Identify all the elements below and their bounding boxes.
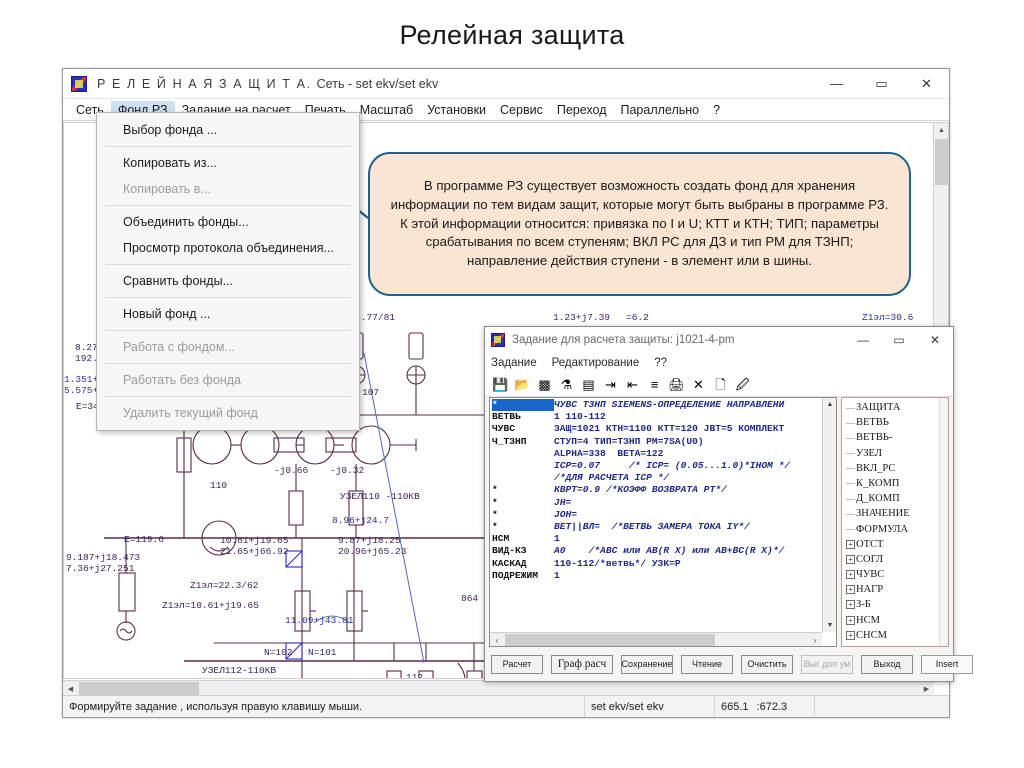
- tree-node-8[interactable]: —ФОРМУЛА: [845, 521, 948, 536]
- app-logo-icon: [71, 76, 87, 92]
- task-text-line[interactable]: *КВРТ=0.9 /*КОЭФФ ВОЗВРАТА РТ*/: [492, 484, 822, 496]
- task-line-body: 110-112/*ветвь*/ УЗК=Р: [554, 558, 681, 570]
- task-text-line[interactable]: *JОН=: [492, 509, 822, 521]
- fund-menu-item-4[interactable]: Просмотр протокола объединения...: [97, 235, 359, 261]
- task-text-line[interactable]: *ЧУВС ТЗНП SIEMENS-ОПРЕДЕЛЕНИЕ НАПРАВЛЕН…: [492, 399, 822, 411]
- diagram-label: 9.187+j18.473: [66, 552, 140, 563]
- dialog-button-bar: РасчетГраф расчСохранениеЧтениеОчиститьВ…: [485, 647, 953, 681]
- dialog-title: Задание для расчета защиты: j1021-4-pm: [512, 334, 734, 346]
- dialog-button-2[interactable]: Сохранение: [621, 655, 673, 674]
- task-line-body: ЧУВС ТЗНП SIEMENS-ОПРЕДЕЛЕНИЕ НАПРАВЛЕНИ: [554, 399, 784, 411]
- dialog-button-0[interactable]: Расчет: [491, 655, 543, 674]
- fund-dropdown-menu[interactable]: Выбор фонда ...Копировать из...Копироват…: [96, 112, 360, 431]
- slide-root: Релейная защита Р Е Л Е Й Н А Я З А Щ И …: [0, 0, 1024, 768]
- task-text-line[interactable]: *ВЕТ||ВЛ= /*ВЕТВЬ ЗАМЕРА ТОКА IY*/: [492, 521, 822, 533]
- fund-menu-item-1[interactable]: Копировать из...: [97, 150, 359, 176]
- fund-menu-item-7: Работа с фондом...: [97, 334, 359, 360]
- task-line-keyword: ВИД-КЗ: [492, 545, 554, 557]
- tree-node-1[interactable]: —ВЕТВЬ: [845, 415, 948, 430]
- task-line-keyword: *: [492, 399, 554, 411]
- status-hint: Формируйте задание , используя правую кл…: [63, 696, 585, 717]
- app-title-sub: Сеть - set ekv/set ekv: [317, 77, 439, 91]
- tree-node-label: СОГЛ: [856, 554, 883, 565]
- app-titlebar: Р Е Л Е Й Н А Я З А Щ И Т А. Сеть - set …: [63, 69, 949, 99]
- tree-node-5[interactable]: —К_КОМП: [845, 476, 948, 491]
- task-line-keyword: Ч_ТЗНП: [492, 436, 554, 448]
- diagram-label: N=102: [264, 647, 293, 658]
- tree-node-label: ВЕТВЬ-: [856, 432, 892, 443]
- status-file: set ekv/set ekv: [585, 696, 715, 717]
- diagram-label: =6.2: [626, 312, 649, 323]
- tree-connector-icon: —: [845, 403, 856, 413]
- app-title: Р Е Л Е Й Н А Я З А Щ И Т А. Сеть - set …: [97, 77, 438, 91]
- dialog-button-3[interactable]: Чтение: [681, 655, 733, 674]
- diagram-label: Z1эл=10.61+j19.65: [162, 600, 259, 611]
- fund-menu-item-9: Удалить текущий фонд: [97, 400, 359, 426]
- task-calculation-dialog: Задание для расчета защиты: j1021-4-pm —…: [484, 326, 954, 682]
- tree-node-label: ПОДРЕЖИМ: [856, 645, 916, 647]
- tree-node-0[interactable]: —ЗАЩИТА: [845, 400, 948, 415]
- vertical-scroll-thumb[interactable]: [935, 139, 948, 185]
- expand-plus-icon[interactable]: +: [845, 570, 856, 579]
- editor-scroll-down-icon[interactable]: ▼: [823, 618, 837, 632]
- dialog-app-icon: [491, 333, 505, 347]
- task-line-body: 1: [554, 570, 560, 582]
- dialog-menubar: ЗаданиеРедактирование??: [485, 353, 953, 372]
- task-line-keyword: НСМ: [492, 533, 554, 545]
- diagram-label: 864: [461, 593, 478, 604]
- task-text-line[interactable]: ЧУВСЗАЩ=1021 КТН=1100 КТТ=120 JВТ=5 КОМП…: [492, 423, 822, 435]
- edit-row-icon[interactable]: ≡: [645, 375, 664, 394]
- tree-node-15[interactable]: +СНСМ: [845, 628, 948, 643]
- app-icon[interactable]: ▩: [535, 375, 554, 394]
- task-text-editor[interactable]: *ЧУВС ТЗНП SIEMENS-ОПРЕДЕЛЕНИЕ НАПРАВЛЕН…: [489, 397, 837, 647]
- tree-node-3[interactable]: —УЗЕЛ: [845, 445, 948, 460]
- diagram-label: -j0.32: [330, 465, 364, 476]
- dialog-toolbar: 💾📂▩⚗▤⇥⇤≡🖨✕🗋🖉: [485, 372, 953, 397]
- tree-node-4[interactable]: —ВКЛ_РС: [845, 461, 948, 476]
- dialog-button-6[interactable]: Выход: [861, 655, 913, 674]
- dialog-button-7[interactable]: Insert: [921, 655, 973, 674]
- task-line-keyword: *: [492, 484, 554, 496]
- editor-scroll-up-icon[interactable]: ▲: [823, 398, 837, 412]
- expand-plus-icon[interactable]: +: [845, 555, 856, 564]
- dialog-maximize-button[interactable]: ▭: [881, 327, 917, 353]
- expand-plus-icon[interactable]: +: [845, 600, 856, 609]
- parameters-tree[interactable]: —ЗАЩИТА—ВЕТВЬ—ВЕТВЬ-—УЗЕЛ—ВКЛ_РС—К_КОМП—…: [841, 397, 949, 647]
- editor-horizontal-scrollbar[interactable]: ‹ ›: [490, 632, 822, 646]
- task-line-body: СТУП=4 ТИП=ТЗНП РМ=7SA(U0): [554, 436, 704, 448]
- menu-item-8[interactable]: Параллельно: [614, 101, 707, 119]
- tree-node-label: ВЕТВЬ: [856, 417, 889, 428]
- task-line-body: ALPHA=338 BETA=122: [554, 448, 663, 460]
- diagram-label: N=101: [308, 647, 337, 658]
- tree-node-label: НАГР: [856, 584, 883, 595]
- tree-node-label: З-Б: [856, 599, 871, 610]
- scroll-right-icon[interactable]: ▶: [919, 681, 934, 696]
- diagram-label: E=119.6: [124, 534, 164, 545]
- tree-node-label: ОТСТ: [856, 539, 883, 550]
- task-text-line[interactable]: КАСКАД110-112/*ветвь*/ УЗК=Р: [492, 558, 822, 570]
- task-line-keyword: *: [492, 497, 554, 509]
- task-text-line[interactable]: НСМ1: [492, 533, 822, 545]
- editor-scroll-right-icon[interactable]: ›: [808, 633, 822, 647]
- task-text-line[interactable]: ПОДРЕЖИМ1: [492, 570, 822, 582]
- task-line-body: КВРТ=0.9 /*КОЭФФ ВОЗВРАТА РТ*/: [554, 484, 727, 496]
- menu-separator: [105, 297, 351, 298]
- task-text-line[interactable]: Ч_ТЗНПСТУП=4 ТИП=ТЗНП РМ=7SA(U0): [492, 436, 822, 448]
- dialog-body: *ЧУВС ТЗНП SIEMENS-ОПРЕДЕЛЕНИЕ НАПРАВЛЕН…: [485, 397, 953, 647]
- task-line-keyword: [492, 448, 554, 460]
- task-line-body: ICP=0.07 /* ICP= (0.05...1.0)*IНОМ */: [554, 460, 790, 472]
- task-line-keyword: [492, 460, 554, 472]
- menu-separator: [105, 396, 351, 397]
- diagram-label: -j0.66: [274, 465, 308, 476]
- diagram-label: 1.23+j7.39: [553, 312, 610, 323]
- tree-node-16[interactable]: +ПОДРЕЖИМ: [845, 643, 948, 647]
- dialog-close-button[interactable]: ✕: [917, 327, 953, 353]
- tree-node-label: НСМ: [856, 615, 880, 626]
- dialog-menu-item-0[interactable]: Задание: [491, 357, 546, 369]
- editor-vertical-scrollbar[interactable]: ▲ ▼: [822, 398, 836, 632]
- fund-menu-item-2: Копировать в...: [97, 176, 359, 202]
- callout-bubble: В программе РЗ существует возможность со…: [368, 152, 911, 296]
- task-text-line[interactable]: ВИД-КЗА0 /*ABC или AB(R X) или AB+BC(R X…: [492, 545, 822, 557]
- task-line-body: А0 /*ABC или AB(R X) или AB+BC(R X)*/: [554, 545, 784, 557]
- diagram-label: Z1эл=22.3/62: [190, 580, 258, 591]
- tree-connector-icon: —: [845, 463, 856, 473]
- remove-row-icon[interactable]: ⇥: [601, 375, 620, 394]
- page-title: Релейная защита: [0, 20, 1024, 51]
- menu-item-5[interactable]: Установки: [420, 101, 493, 119]
- menu-separator: [105, 205, 351, 206]
- tree-node-12[interactable]: +НАГР: [845, 582, 948, 597]
- tree-node-14[interactable]: +НСМ: [845, 613, 948, 628]
- scroll-up-icon[interactable]: ▲: [934, 123, 949, 138]
- editor-scroll-left-icon[interactable]: ‹: [490, 633, 504, 647]
- scroll-left-icon[interactable]: ◀: [63, 681, 78, 696]
- status-bar: Формируйте задание , используя правую кл…: [63, 695, 949, 717]
- fund-menu-item-8: Работать без фонда: [97, 367, 359, 393]
- diagram-label: 21.65+j66.92: [220, 546, 288, 557]
- callout-text: В программе РЗ существует возможность со…: [390, 177, 889, 271]
- status-coordinates: 665.1 :672.3: [715, 696, 815, 717]
- dialog-menu-item-1[interactable]: Редактирование: [552, 357, 649, 369]
- menu-item-7[interactable]: Переход: [550, 101, 614, 119]
- task-text-line[interactable]: ICP=0.07 /* ICP= (0.05...1.0)*IНОМ */: [492, 460, 822, 472]
- tree-node-2[interactable]: —ВЕТВЬ-: [845, 430, 948, 445]
- task-line-keyword: ЧУВС: [492, 423, 554, 435]
- diagram-label: 8.96+j24.7: [332, 515, 389, 526]
- open-folder-icon[interactable]: 📂: [513, 375, 532, 394]
- expand-plus-icon[interactable]: +: [845, 646, 856, 647]
- menu-separator: [105, 363, 351, 364]
- task-text-line[interactable]: *JН=: [492, 497, 822, 509]
- expand-plus-icon[interactable]: +: [845, 540, 856, 549]
- fund-menu-item-3[interactable]: Объединить фонды...: [97, 209, 359, 235]
- list-icon[interactable]: ▤: [579, 375, 598, 394]
- diagram-label: 112: [406, 672, 423, 679]
- menu-item-6[interactable]: Сервис: [493, 101, 550, 119]
- menu-item-4[interactable]: Масштаб: [353, 101, 420, 119]
- dialog-window-controls: — ▭ ✕: [845, 327, 953, 353]
- task-line-body: 1 110-112: [554, 411, 606, 423]
- task-line-keyword: КАСКАД: [492, 558, 554, 570]
- horizontal-scroll-thumb[interactable]: [79, 682, 199, 695]
- task-line-body: ЗАЩ=1021 КТН=1100 КТТ=120 JВТ=5 КОМПЛЕКТ: [554, 423, 784, 435]
- expand-plus-icon[interactable]: +: [845, 616, 856, 625]
- fund-menu-item-0[interactable]: Выбор фонда ...: [97, 117, 359, 143]
- task-line-body: JН=: [554, 497, 571, 509]
- diagram-label: Z1эл=30.6: [862, 312, 913, 323]
- diagram-label: 9.87+j18.25: [338, 535, 401, 546]
- close-button[interactable]: ✕: [904, 69, 949, 99]
- minimize-button[interactable]: —: [814, 69, 859, 99]
- task-line-body: JОН=: [554, 509, 577, 521]
- menu-separator: [105, 146, 351, 147]
- task-line-keyword: *: [492, 509, 554, 521]
- tree-node-label: УЗЕЛ: [856, 448, 882, 459]
- menu-separator: [105, 330, 351, 331]
- new-file-icon[interactable]: 🗋: [711, 375, 730, 394]
- tree-node-label: ЗАЩИТА: [856, 402, 901, 413]
- tree-node-label: ВКЛ_РС: [856, 463, 895, 474]
- tree-connector-icon: —: [845, 433, 856, 443]
- diagram-label: 10.61+j19.65: [220, 535, 288, 546]
- diagram-label: 110: [210, 480, 227, 491]
- task-line-body: ВЕТ||ВЛ= /*ВЕТВЬ ЗАМЕРА ТОКА IY*/: [554, 521, 750, 533]
- expand-plus-icon[interactable]: +: [845, 631, 856, 640]
- task-line-keyword: [492, 472, 554, 484]
- dialog-minimize-button[interactable]: —: [845, 327, 881, 353]
- delete-icon[interactable]: ✕: [689, 375, 708, 394]
- diagram-label: УЗЕЛ110 -110КВ: [340, 491, 420, 502]
- canvas-horizontal-scrollbar[interactable]: ◀ ▶: [63, 680, 934, 695]
- diagram-label: 20.96+j65.23: [338, 546, 406, 557]
- task-text-line[interactable]: /*ДЛЯ РАСЧЕТА ICP */: [492, 472, 822, 484]
- expand-plus-icon[interactable]: +: [845, 585, 856, 594]
- tree-connector-icon: —: [845, 478, 856, 488]
- task-line-keyword: ВЕТВЬ: [492, 411, 554, 423]
- tree-node-7[interactable]: —ЗНАЧЕНИЕ: [845, 506, 948, 521]
- tree-connector-icon: —: [845, 448, 856, 458]
- dialog-button-1[interactable]: Граф расч: [551, 655, 613, 674]
- tree-connector-icon: —: [845, 418, 856, 428]
- tree-node-11[interactable]: +ЧУВС: [845, 567, 948, 582]
- task-line-body: 1: [554, 533, 560, 545]
- dialog-button-4[interactable]: Очистить: [741, 655, 793, 674]
- fund-menu-item-5[interactable]: Сравнить фонды...: [97, 268, 359, 294]
- status-coord-x: 665.1: [721, 701, 749, 713]
- task-line-keyword: ПОДРЕЖИМ: [492, 570, 554, 582]
- task-line-keyword: *: [492, 521, 554, 533]
- tree-node-13[interactable]: +З-Б: [845, 597, 948, 612]
- tree-node-label: ФОРМУЛА: [856, 524, 908, 535]
- app-title-main: Р Е Л Е Й Н А Я З А Щ И Т А.: [97, 77, 312, 91]
- tree-node-label: К_КОМП: [856, 478, 900, 489]
- tree-node-label: ЗНАЧЕНИЕ: [856, 508, 910, 519]
- add-row-icon[interactable]: ⇤: [623, 375, 642, 394]
- task-line-body: /*ДЛЯ РАСЧЕТА ICP */: [554, 472, 669, 484]
- diagram-label: 107: [362, 387, 379, 398]
- link-icon[interactable]: 🖉: [733, 375, 752, 394]
- dialog-menu-item-2[interactable]: ??: [654, 357, 676, 369]
- tree-node-label: Д_КОМП: [856, 493, 900, 504]
- editor-h-scroll-thumb[interactable]: [505, 634, 715, 646]
- print-icon[interactable]: 🖨: [667, 375, 686, 394]
- tree-connector-icon: —: [845, 509, 856, 519]
- dialog-button-5: Выг доп ум: [801, 655, 853, 674]
- tree-connector-icon: —: [845, 494, 856, 504]
- tree-scrollbar[interactable]: [939, 398, 948, 646]
- status-extra: [815, 696, 949, 717]
- task-text-line[interactable]: ALPHA=338 BETA=122: [492, 448, 822, 460]
- fund-menu-item-6[interactable]: Новый фонд ...: [97, 301, 359, 327]
- window-controls: — ▭ ✕: [814, 69, 949, 99]
- calc-icon[interactable]: ⚗: [557, 375, 576, 394]
- task-text-lines[interactable]: *ЧУВС ТЗНП SIEMENS-ОПРЕДЕЛЕНИЕ НАПРАВЛЕН…: [490, 398, 822, 632]
- tree-node-label: ЧУВС: [856, 569, 884, 580]
- menu-item-9[interactable]: ?: [706, 101, 727, 119]
- task-text-line[interactable]: ВЕТВЬ1 110-112: [492, 411, 822, 423]
- tree-node-9[interactable]: +ОТСТ: [845, 537, 948, 552]
- diagram-label: 11.09+j43.81: [285, 615, 353, 626]
- dialog-titlebar: Задание для расчета защиты: j1021-4-pm —…: [485, 327, 953, 353]
- tree-node-label: СНСМ: [856, 630, 887, 641]
- tree-node-10[interactable]: +СОГЛ: [845, 552, 948, 567]
- tree-node-6[interactable]: —Д_КОМП: [845, 491, 948, 506]
- diagram-label: УЗЕЛ112-110КВ: [202, 665, 276, 676]
- save-icon[interactable]: 💾: [491, 375, 510, 394]
- menu-separator: [105, 264, 351, 265]
- status-coord-y: :672.3: [757, 701, 788, 713]
- tree-connector-icon: —: [845, 524, 856, 534]
- diagram-label: 7.36+j27.251: [66, 563, 134, 574]
- maximize-button[interactable]: ▭: [859, 69, 904, 99]
